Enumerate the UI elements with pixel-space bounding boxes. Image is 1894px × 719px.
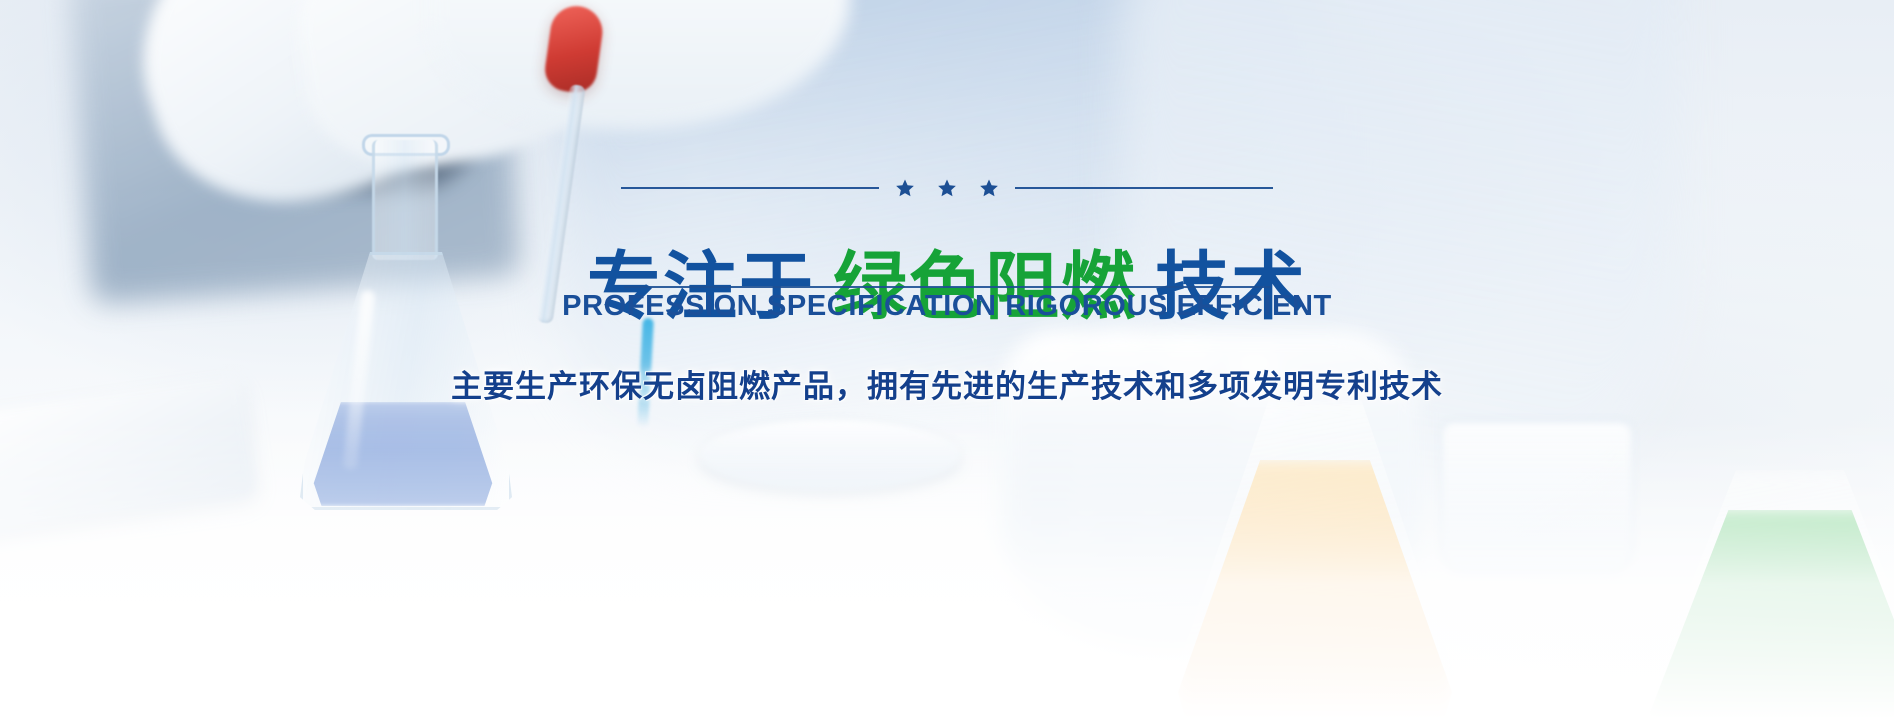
decorative-rule — [0, 178, 1894, 198]
rule-line-right — [1015, 187, 1273, 189]
star-icon — [979, 178, 999, 198]
subtitle-english: PROFESSION SPECIFICATION RIGOROUS EFFICI… — [0, 290, 1894, 323]
tagline: 主要生产环保无卤阻燃产品，拥有先进的生产技术和多项发明专利技术 — [0, 361, 1894, 406]
star-icon — [937, 178, 957, 198]
hero-banner: 专注于绿色阻燃技术 PROFESSION SPECIFICATION RIGOR… — [0, 0, 1894, 719]
star-group — [895, 178, 999, 198]
banner-content: 专注于绿色阻燃技术 PROFESSION SPECIFICATION RIGOR… — [0, 0, 1894, 719]
rule-line-left — [621, 187, 879, 189]
star-icon — [895, 178, 915, 198]
title-underline — [0, 286, 1894, 288]
